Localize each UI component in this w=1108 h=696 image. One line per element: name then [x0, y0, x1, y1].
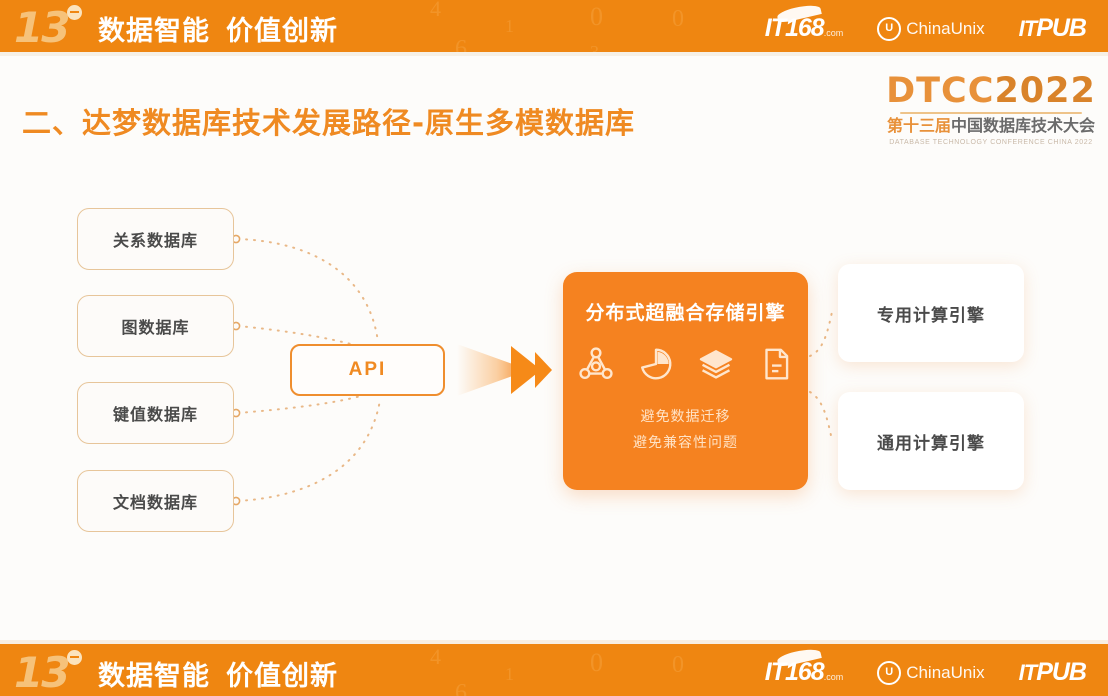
logo-badge-icon: [67, 650, 82, 665]
footer-13-logo: 13: [14, 648, 92, 696]
watermark-digit: 6: [455, 680, 467, 696]
chinaunix-logo: U ChinaUnix: [877, 17, 984, 41]
dtcc-logo: DTCC2022 第十三届中国数据库技术大会 DATABASE TECHNOLO…: [886, 74, 1096, 146]
header-bar: 4 1 6 0 3 0 13 数据智能价值创新 IT168.com U Chin…: [0, 0, 1108, 56]
dtcc-subtitle: 第十三届中国数据库技术大会: [886, 118, 1096, 136]
conference-13-logo: 13: [14, 3, 92, 53]
pie-chart-icon: [637, 345, 675, 383]
it168-logo: IT168.com: [765, 14, 843, 43]
source-node-document[interactable]: 文档数据库: [77, 470, 234, 532]
source-node-graph[interactable]: 图数据库: [77, 295, 234, 357]
watermark-digit: 1: [505, 16, 514, 37]
core-icon-row: [563, 345, 808, 383]
core-title: 分布式超融合存储引擎: [563, 298, 808, 325]
diagram-canvas: 关系数据库 图数据库 键值数据库 文档数据库 API: [0, 160, 1108, 580]
dtcc-subtitle-en: DATABASE TECHNOLOGY CONFERENCE CHINA 202…: [886, 139, 1096, 146]
dtcc-divider: [900, 112, 1082, 114]
source-node-keyvalue[interactable]: 键值数据库: [77, 382, 234, 444]
footer-bar: 4 1 6 0 0 13 数据智能价值创新 IT168.com U ChinaU…: [0, 640, 1108, 696]
document-icon: [757, 345, 795, 383]
engine-node-dedicated[interactable]: 专用计算引擎: [838, 264, 1024, 362]
footer-topline: [0, 640, 1108, 644]
watermark-digit: 0: [590, 648, 603, 678]
itpub-logo: ITPUB: [1019, 658, 1086, 687]
layers-icon: [697, 345, 735, 383]
slide-root: 4 1 6 0 3 0 13 数据智能价值创新 IT168.com U Chin…: [0, 0, 1108, 696]
footer-sponsor-logos: IT168.com U ChinaUnix ITPUB: [765, 658, 1086, 687]
watermark-digit: 4: [430, 0, 441, 22]
watermark-digit: 1: [505, 664, 514, 685]
itpub-logo: ITPUB: [1019, 14, 1086, 43]
graph-nodes-icon: [577, 345, 615, 383]
chinaunix-u-icon: U: [877, 661, 901, 685]
header-sponsor-logos: IT168.com U ChinaUnix ITPUB: [765, 14, 1086, 43]
watermark-digit: 0: [672, 652, 684, 679]
chinaunix-u-icon: U: [877, 17, 901, 41]
logo-badge-icon: [67, 5, 82, 20]
core-benefits: 避免数据迁移 避免兼容性问题: [563, 405, 808, 457]
flow-arrow-icon: [455, 330, 575, 410]
footer-title: 数据智能价值创新: [98, 654, 338, 693]
source-node-relational[interactable]: 关系数据库: [77, 208, 234, 270]
watermark-digit: 4: [430, 644, 441, 670]
engine-node-general[interactable]: 通用计算引擎: [838, 392, 1024, 490]
core-storage-engine-card[interactable]: 分布式超融合存储引擎: [563, 272, 808, 490]
header-title: 数据智能价值创新: [98, 9, 338, 48]
api-node[interactable]: API: [290, 344, 445, 396]
header-underline: [0, 52, 1108, 56]
it168-logo: IT168.com: [765, 658, 843, 687]
page-title: 二、达梦数据库技术发展路径-原生多模数据库: [22, 100, 635, 142]
chinaunix-logo: U ChinaUnix: [877, 661, 984, 685]
watermark-digit: 0: [672, 6, 684, 33]
watermark-digit: 0: [590, 2, 603, 32]
dtcc-brand-line: DTCC2022: [886, 74, 1096, 109]
